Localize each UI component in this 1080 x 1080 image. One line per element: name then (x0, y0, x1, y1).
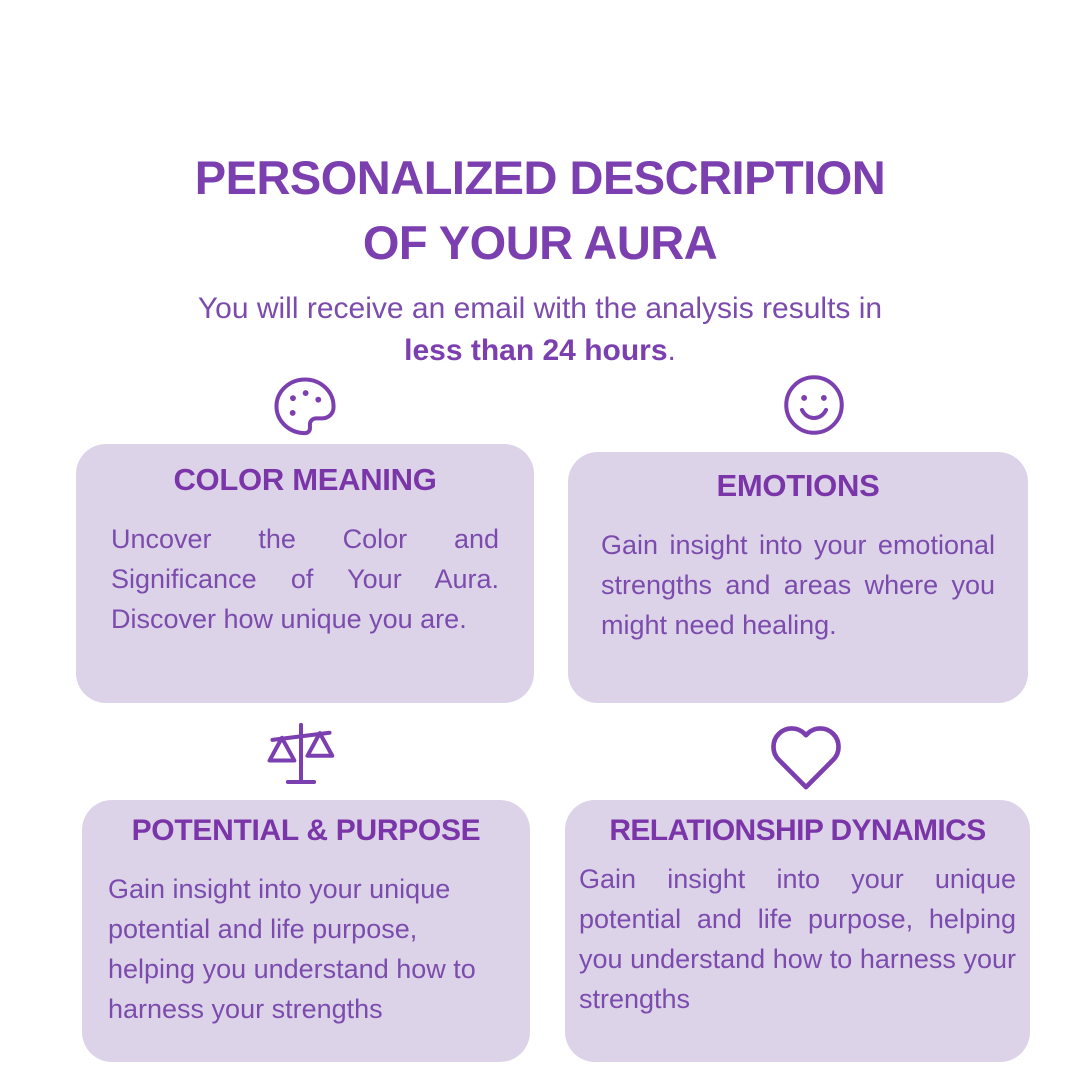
page-subtitle-suffix: . (668, 334, 676, 367)
page-subtitle: You will receive an email with the analy… (0, 288, 1080, 373)
card-relationship-dynamics[interactable]: RELATIONSHIP DYNAMICS Gain insight into … (565, 800, 1030, 1062)
page-title-line-2: OF YOUR AURA (363, 216, 717, 269)
card-body-potential-purpose: Gain insight into your unique potential … (108, 870, 504, 1030)
page-title-line-1: PERSONALIZED DESCRIPTION (195, 151, 885, 204)
page-header: PERSONALIZED DESCRIPTION OF YOUR AURA Yo… (0, 0, 1080, 373)
card-emotions[interactable]: EMOTIONS Gain insight into your emotiona… (568, 452, 1028, 703)
palette-icon (268, 371, 342, 445)
card-title-potential-purpose: POTENTIAL & PURPOSE (108, 814, 504, 848)
card-potential-purpose[interactable]: POTENTIAL & PURPOSE Gain insight into yo… (82, 800, 530, 1062)
card-title-relationship-dynamics: RELATIONSHIP DYNAMICS (579, 814, 1016, 848)
card-title-emotions: EMOTIONS (601, 468, 995, 504)
card-body-relationship-dynamics: Gain insight into your unique potential … (579, 860, 1016, 1020)
card-color-meaning[interactable]: COLOR MEANING Uncover the Color and Sign… (76, 444, 534, 703)
smiley-face-icon (777, 368, 851, 442)
page-subtitle-highlight: less than 24 hours (404, 334, 667, 367)
card-title-color-meaning: COLOR MEANING (111, 462, 499, 498)
page-title: PERSONALIZED DESCRIPTION OF YOUR AURA (0, 146, 1080, 276)
heart-icon (766, 718, 846, 798)
card-body-color-meaning: Uncover the Color and Significance of Yo… (111, 520, 499, 640)
page-subtitle-prefix: You will receive an email with the analy… (198, 292, 882, 325)
scales-icon (264, 718, 338, 792)
card-body-emotions: Gain insight into your emotional strengt… (601, 526, 995, 646)
